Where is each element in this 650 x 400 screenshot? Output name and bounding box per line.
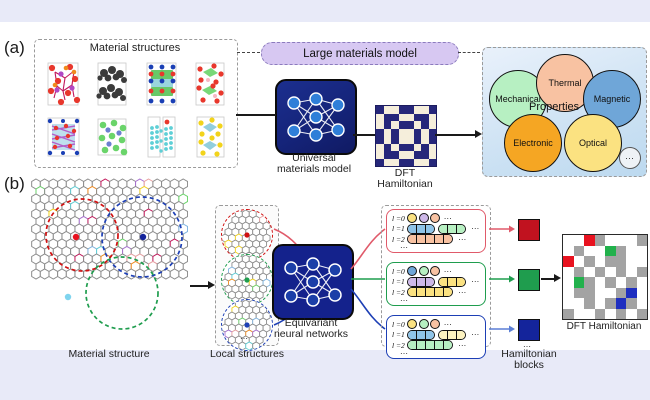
matrix-cell — [421, 106, 429, 114]
matrix-cell — [399, 106, 407, 114]
universal-materials-model-box — [275, 79, 357, 155]
feature-group-3: l =0⋯l =1⋯l =2⋯⋯ — [386, 315, 486, 359]
dash-link-right — [458, 52, 480, 53]
matrix-cell — [637, 309, 648, 320]
matrix-cell — [429, 106, 437, 114]
feature-bead — [430, 266, 440, 276]
arrow-head-blocks-to-dft — [554, 274, 561, 282]
crystal-structure-3 — [139, 60, 185, 108]
material-structures-title: Material structures — [34, 43, 236, 55]
matrix-cell — [584, 267, 595, 278]
property-label-electronic: Electronic — [513, 138, 553, 148]
feature-row-ellipsis: ⋯ — [458, 288, 467, 297]
feature-bead — [430, 319, 440, 329]
arrow-head-to-properties — [475, 130, 482, 138]
matrix-cell — [574, 288, 585, 299]
matrix-cell — [399, 144, 407, 152]
feature-pill — [407, 340, 453, 350]
matrix-cell — [595, 277, 606, 288]
matrix-cell — [429, 159, 437, 167]
properties-center-label: Properties — [529, 101, 579, 113]
feature-row-ellipsis: ⋯ — [458, 341, 467, 350]
connector-blocks-to-dft — [541, 278, 555, 280]
feature-pill — [438, 330, 466, 340]
matrix-cell — [421, 136, 429, 144]
large-materials-model-label: Large materials model — [303, 48, 417, 60]
matrix-cell — [574, 309, 585, 320]
material-structure-lattice — [30, 177, 188, 350]
connector-matrix-to-properties — [435, 134, 477, 136]
matrix-cell — [584, 288, 595, 299]
matrix-cell — [429, 114, 437, 122]
feature-row: l =0⋯ — [392, 266, 452, 276]
feature-bead — [407, 266, 417, 276]
matrix-cell — [563, 309, 574, 320]
feature-group-2: l =0⋯l =1⋯l =2⋯⋯ — [386, 262, 486, 306]
matrix-cell — [584, 246, 595, 257]
matrix-cell — [376, 144, 384, 152]
matrix-cell — [414, 121, 422, 129]
matrix-cell — [637, 267, 648, 278]
matrix-cell — [384, 136, 392, 144]
dash-link-left — [237, 52, 260, 53]
equivariant-nn-caption-2: neural networks — [266, 329, 356, 341]
matrix-cell — [391, 114, 399, 122]
matrix-cell — [406, 136, 414, 144]
matrix-cell — [637, 246, 648, 257]
matrix-cell — [391, 159, 399, 167]
matrix-cell — [421, 129, 429, 137]
matrix-cell — [376, 121, 384, 129]
matrix-cell — [429, 151, 437, 159]
matrix-cell — [399, 121, 407, 129]
matrix-cell — [414, 114, 422, 122]
matrix-cell — [391, 121, 399, 129]
matrix-cell — [637, 298, 648, 309]
matrix-cell — [421, 151, 429, 159]
matrix-cell — [406, 151, 414, 159]
feature-group-ellipsis: ⋯ — [400, 349, 409, 358]
feature-row: l =0⋯ — [392, 213, 452, 223]
feature-row: l =1⋯ — [392, 330, 480, 340]
matrix-cell — [391, 106, 399, 114]
matrix-cell — [399, 129, 407, 137]
crystal-structure-1 — [41, 60, 87, 108]
matrix-cell — [626, 298, 637, 309]
arrow-head-lattice-to-local — [208, 281, 215, 289]
neural-network-icon — [277, 81, 355, 153]
matrix-cell — [637, 235, 648, 246]
matrix-cell — [384, 151, 392, 159]
matrix-cell — [584, 309, 595, 320]
feature-bead — [407, 213, 417, 223]
matrix-cell — [414, 159, 422, 167]
feature-row-ellipsis: ⋯ — [444, 320, 453, 329]
connector-structures-to-model — [236, 114, 276, 116]
matrix-cell — [563, 277, 574, 288]
matrix-cell — [384, 106, 392, 114]
matrix-cell — [429, 144, 437, 152]
caption-hamiltonian-blocks-2: blocks — [494, 360, 564, 372]
matrix-cell — [637, 288, 648, 299]
matrix-cell — [584, 235, 595, 246]
feature-pill — [407, 234, 453, 244]
matrix-cell — [406, 106, 414, 114]
matrix-cell — [421, 144, 429, 152]
feature-row-ellipsis: ⋯ — [444, 267, 453, 276]
matrix-cell — [574, 267, 585, 278]
dft-hamiltonian-matrix-a — [375, 105, 437, 167]
matrix-cell — [406, 144, 414, 152]
matrix-cell — [584, 298, 595, 309]
matrix-cell — [605, 277, 616, 288]
matrix-cell — [616, 267, 627, 278]
matrix-cell — [421, 114, 429, 122]
matrix-cell — [637, 277, 648, 288]
matrix-cell — [584, 256, 595, 267]
properties-more-label: ⋯ — [625, 153, 635, 164]
matrix-cell — [574, 246, 585, 257]
property-label-optical: Optical — [579, 138, 607, 148]
matrix-cell — [414, 151, 422, 159]
feature-bead — [430, 213, 440, 223]
large-materials-model-banner: Large materials model — [261, 42, 459, 65]
matrix-cell — [391, 129, 399, 137]
matrix-cell — [616, 235, 627, 246]
feature-row-ellipsis: ⋯ — [471, 277, 480, 286]
matrix-cell — [384, 129, 392, 137]
matrix-cell — [626, 309, 637, 320]
equivariant-neural-networks-box — [272, 244, 354, 320]
feature-row-ellipsis: ⋯ — [471, 330, 480, 339]
matrix-cell — [626, 235, 637, 246]
matrix-cell — [626, 246, 637, 257]
matrix-cell — [376, 129, 384, 137]
matrix-cell — [376, 106, 384, 114]
feature-group-ellipsis: ⋯ — [400, 243, 409, 252]
matrix-cell — [605, 309, 616, 320]
crystal-structure-2 — [90, 60, 136, 108]
matrix-cell — [563, 246, 574, 257]
matrix-cell — [563, 267, 574, 278]
feature-bead — [419, 266, 429, 276]
matrix-cell — [563, 288, 574, 299]
figure-canvas: (a) Material structures — [0, 22, 650, 350]
matrix-cell — [574, 235, 585, 246]
universal-materials-model-caption-2: materials model — [269, 164, 359, 176]
matrix-cell — [574, 277, 585, 288]
property-circle-electronic: Electronic — [504, 114, 562, 172]
matrix-cell — [595, 309, 606, 320]
caption-material-structure: Material structure — [28, 349, 190, 361]
matrix-cell — [391, 136, 399, 144]
matrix-cell — [563, 256, 574, 267]
matrix-cell — [429, 136, 437, 144]
matrix-cell — [616, 256, 627, 267]
feature-row: l =0⋯ — [392, 319, 452, 329]
feature-pill — [438, 277, 466, 287]
dft-hamiltonian-matrix-b — [562, 234, 648, 320]
matrix-cell — [563, 235, 574, 246]
matrix-cell — [595, 256, 606, 267]
matrix-cell — [605, 246, 616, 257]
matrix-cell — [616, 298, 627, 309]
matrix-cell — [399, 151, 407, 159]
matrix-cell — [384, 121, 392, 129]
matrix-cell — [414, 144, 422, 152]
matrix-cell — [376, 114, 384, 122]
neural-network-icon-b — [274, 246, 352, 318]
matrix-cell — [574, 298, 585, 309]
matrix-cell — [563, 298, 574, 309]
matrix-cell — [595, 267, 606, 278]
feature-pill — [407, 277, 435, 287]
matrix-cell — [414, 136, 422, 144]
matrix-cell — [376, 151, 384, 159]
feature-row-label: l =1 — [392, 224, 405, 233]
feature-pill — [407, 330, 435, 340]
matrix-cell — [406, 129, 414, 137]
matrix-cell — [574, 256, 585, 267]
matrix-cell — [616, 309, 627, 320]
hamiltonian-block-green — [518, 269, 540, 291]
feature-row-label: l =0 — [392, 214, 405, 223]
property-circle-optical: Optical — [564, 114, 622, 172]
matrix-cell — [429, 121, 437, 129]
matrix-cell — [605, 267, 616, 278]
feature-row-label: l =1 — [392, 330, 405, 339]
hamiltonian-block-red — [518, 219, 540, 241]
feature-row: l =1⋯ — [392, 224, 480, 234]
feature-group-1: l =0⋯l =1⋯l =2⋯⋯ — [386, 209, 486, 253]
matrix-cell — [399, 114, 407, 122]
matrix-cell — [384, 144, 392, 152]
connectors-features-to-blocks — [489, 207, 515, 357]
caption-dft-hamiltonian-b: DFT Hamiltonian — [556, 321, 650, 333]
feature-row-ellipsis: ⋯ — [444, 214, 453, 223]
connector-lattice-to-local — [190, 285, 209, 287]
matrix-cell — [391, 151, 399, 159]
feature-bead — [419, 319, 429, 329]
dft-hamiltonian-caption-a-2: Hamiltonian — [360, 179, 450, 191]
matrix-cell — [616, 277, 627, 288]
hamiltonian-block-blue — [518, 319, 540, 341]
feature-row-label: l =0 — [392, 320, 405, 329]
matrix-cell — [376, 136, 384, 144]
matrix-cell — [421, 159, 429, 167]
feature-bead — [419, 213, 429, 223]
matrix-cell — [616, 288, 627, 299]
property-label-magnetic: Magnetic — [594, 94, 631, 104]
feature-row: l =1⋯ — [392, 277, 480, 287]
matrix-cell — [406, 121, 414, 129]
feature-bead — [407, 319, 417, 329]
connector-model-to-matrix — [353, 134, 375, 136]
crystal-structure-7 — [139, 114, 185, 162]
panel-b-label: (b) — [4, 174, 25, 194]
feature-row-ellipsis: ⋯ — [471, 224, 480, 233]
panel-a-label: (a) — [4, 38, 25, 58]
feature-row-label: l =1 — [392, 277, 405, 286]
feature-pill — [438, 224, 466, 234]
crystal-structure-4 — [188, 60, 234, 108]
matrix-cell — [384, 159, 392, 167]
feature-pill — [407, 287, 453, 297]
property-label-thermal: Thermal — [548, 78, 581, 88]
matrix-cell — [406, 114, 414, 122]
matrix-cell — [605, 235, 616, 246]
matrix-cell — [399, 159, 407, 167]
feature-pill — [407, 224, 435, 234]
matrix-cell — [595, 235, 606, 246]
matrix-cell — [384, 114, 392, 122]
matrix-cell — [414, 129, 422, 137]
crystal-structure-6 — [90, 114, 136, 162]
matrix-cell — [584, 277, 595, 288]
matrix-cell — [391, 144, 399, 152]
matrix-cell — [406, 159, 414, 167]
matrix-cell — [626, 288, 637, 299]
matrix-cell — [399, 136, 407, 144]
matrix-cell — [376, 159, 384, 167]
matrix-cell — [595, 246, 606, 257]
matrix-cell — [414, 106, 422, 114]
crystal-structure-5 — [41, 114, 87, 162]
matrix-cell — [605, 298, 616, 309]
feature-group-ellipsis: ⋯ — [400, 296, 409, 305]
matrix-cell — [605, 256, 616, 267]
matrix-cell — [637, 256, 648, 267]
feature-row-ellipsis: ⋯ — [458, 235, 467, 244]
matrix-cell — [626, 267, 637, 278]
local-structures-ellipsis: ⋯ — [240, 334, 249, 343]
properties-more-icon: ⋯ — [619, 147, 641, 169]
matrix-cell — [595, 288, 606, 299]
matrix-cell — [421, 121, 429, 129]
matrix-cell — [616, 246, 627, 257]
matrix-cell — [605, 288, 616, 299]
crystal-structure-8 — [188, 114, 234, 162]
matrix-cell — [595, 298, 606, 309]
matrix-cell — [626, 256, 637, 267]
matrix-cell — [626, 277, 637, 288]
feature-row-label: l =0 — [392, 267, 405, 276]
